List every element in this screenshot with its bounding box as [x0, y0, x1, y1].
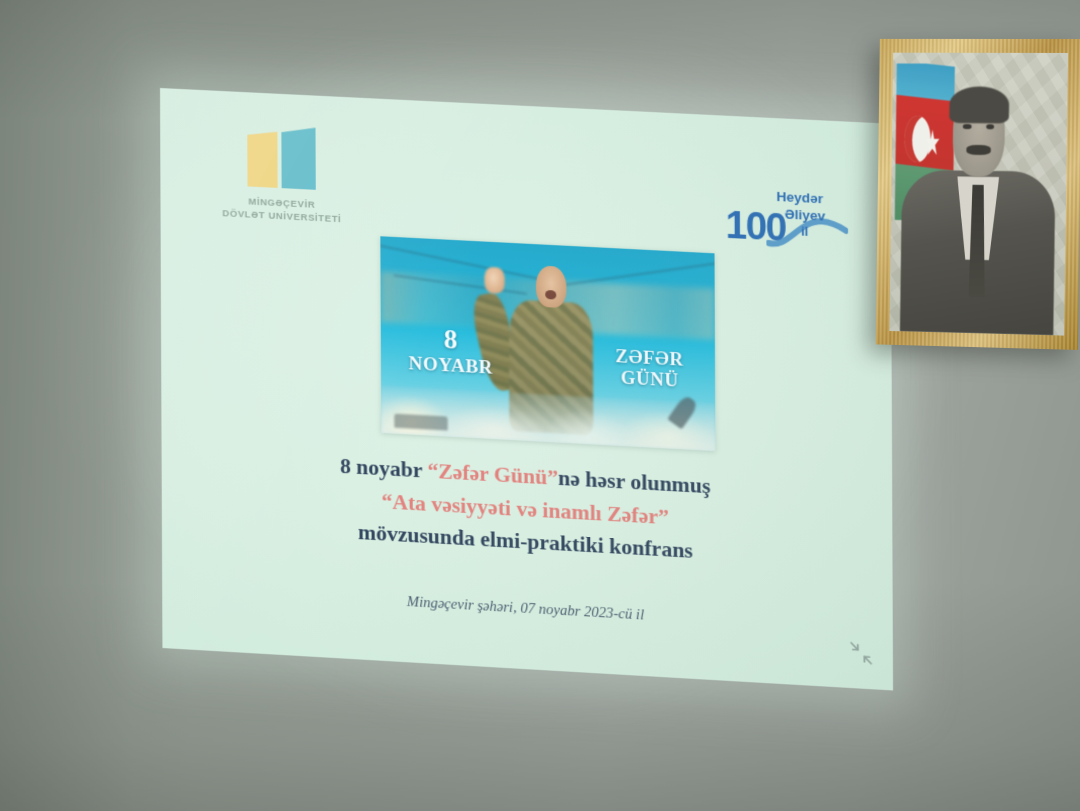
title-line-1-pre: 8 noyabr — [340, 454, 428, 483]
book-logo-icon — [243, 122, 320, 190]
centenary-line-1: Heydər — [776, 189, 823, 207]
university-logo: MİNGƏÇEVİR DÖVLƏT UNİVERSİTETİ — [206, 120, 357, 228]
portrait-hair — [949, 86, 1009, 123]
poster-day: 8 — [401, 324, 501, 356]
slide-title: 8 noyabr “Zəfər Günü”nə həsr olunmuş “At… — [162, 440, 893, 579]
centenary-line-3: il — [801, 223, 808, 239]
portrait-subject — [889, 53, 1068, 336]
room-scene: MİNGƏÇEVİR DÖVLƏT UNİVERSİTETİ 100 Heydə… — [0, 0, 1080, 811]
title-line-1-highlight: “Zəfər Günü” — [427, 459, 558, 490]
book-logo-left-page — [247, 130, 277, 188]
title-line-1-post: nə həsr olunmuş — [558, 466, 711, 499]
book-logo-right-page — [281, 126, 315, 190]
poster-date-text: 8 NOYABR — [401, 324, 501, 381]
portrait-canvas — [889, 53, 1068, 336]
centenary-line-2: Əliyev — [785, 206, 826, 223]
exit-fullscreen-icon[interactable] — [848, 639, 875, 667]
heydar-aliyev-100-icon: 100 Heydər Əliyev il — [725, 188, 848, 257]
portrait-eye-right — [986, 124, 994, 129]
soldier-head — [536, 265, 566, 308]
poster-victory-line-2: GÜNÜ — [594, 367, 705, 394]
victory-day-poster: 8 NOYABR ZƏFƏR GÜNÜ — [380, 236, 715, 451]
portrait-eye-left — [963, 124, 971, 129]
projected-slide[interactable]: MİNGƏÇEVİR DÖVLƏT UNİVERSİTETİ 100 Heydə… — [160, 88, 893, 690]
soldier-fist — [484, 266, 504, 293]
university-name: MİNGƏÇEVİR DÖVLƏT UNİVERSİTETİ — [206, 193, 357, 228]
framed-portrait — [876, 39, 1080, 350]
slide-canvas: MİNGƏÇEVİR DÖVLƏT UNİVERSİTETİ 100 Heydə… — [160, 88, 893, 690]
poster-month: NOYABR — [401, 353, 501, 380]
portrait-mustache — [966, 145, 991, 155]
centenary-number: 100 — [725, 204, 785, 250]
slide-footer: Mingəçevir şəhəri, 07 noyabr 2023-cü il — [162, 580, 893, 639]
poster-victory-text: ZƏFƏR GÜNÜ — [594, 346, 705, 395]
